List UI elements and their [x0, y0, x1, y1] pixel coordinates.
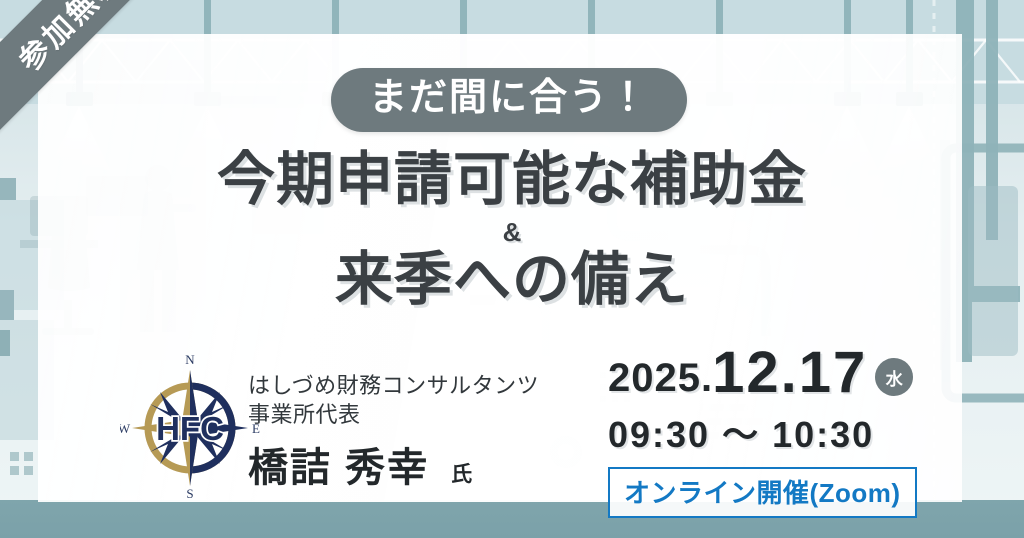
date-separator-1: . [701, 358, 712, 398]
svg-text:HFC: HFC [156, 410, 224, 447]
headline-line-1: 今期申請可能な補助金 [0, 150, 1024, 211]
svg-text:N: N [185, 352, 195, 367]
headline-block: 今期申請可能な補助金 & 来季への備え [0, 150, 1024, 311]
speaker-organization: はしづめ財務コンサルタンツ [248, 372, 539, 401]
speaker-name-row: 橋詰 秀幸 氏 [248, 435, 539, 493]
event-weekday-badge: 水 [875, 358, 913, 396]
banner-canvas: 参加無料 まだ間に合う！ 今期申請可能な補助金 & 来季への備え [0, 0, 1024, 538]
speaker-info: はしづめ財務コンサルタンツ 事業所代表 橋詰 秀幸 氏 [248, 372, 539, 493]
event-day: 17 [799, 344, 868, 402]
svg-text:S: S [186, 486, 193, 500]
online-venue-badge: オンライン開催(Zoom) [608, 467, 917, 518]
hfc-compass-logo: HFC N S W E [120, 352, 260, 500]
event-year: 2025 [608, 358, 701, 398]
date-separator-2: . [781, 344, 799, 402]
online-venue-label: オンライン開催(Zoom) [624, 478, 901, 508]
event-month: 12 [712, 344, 781, 402]
still-in-time-badge: まだ間に合う！ [331, 68, 687, 132]
speaker-role: 事業所代表 [248, 401, 539, 430]
speaker-name-suffix: 氏 [451, 458, 472, 488]
svg-text:W: W [120, 421, 131, 436]
event-date-row: 2025 . 12 . 17 水 [608, 344, 938, 402]
event-details: 2025 . 12 . 17 水 09:30 ～ 10:30 オンライン開催(Z… [608, 344, 938, 518]
headline-line-2: 来季への備え [0, 250, 1024, 311]
headline-separator: & [0, 217, 1024, 248]
event-time: 09:30 ～ 10:30 [608, 406, 938, 458]
speaker-name: 橋詰 秀幸 [248, 435, 429, 493]
badge-label: まだ間に合う！ [369, 79, 649, 117]
